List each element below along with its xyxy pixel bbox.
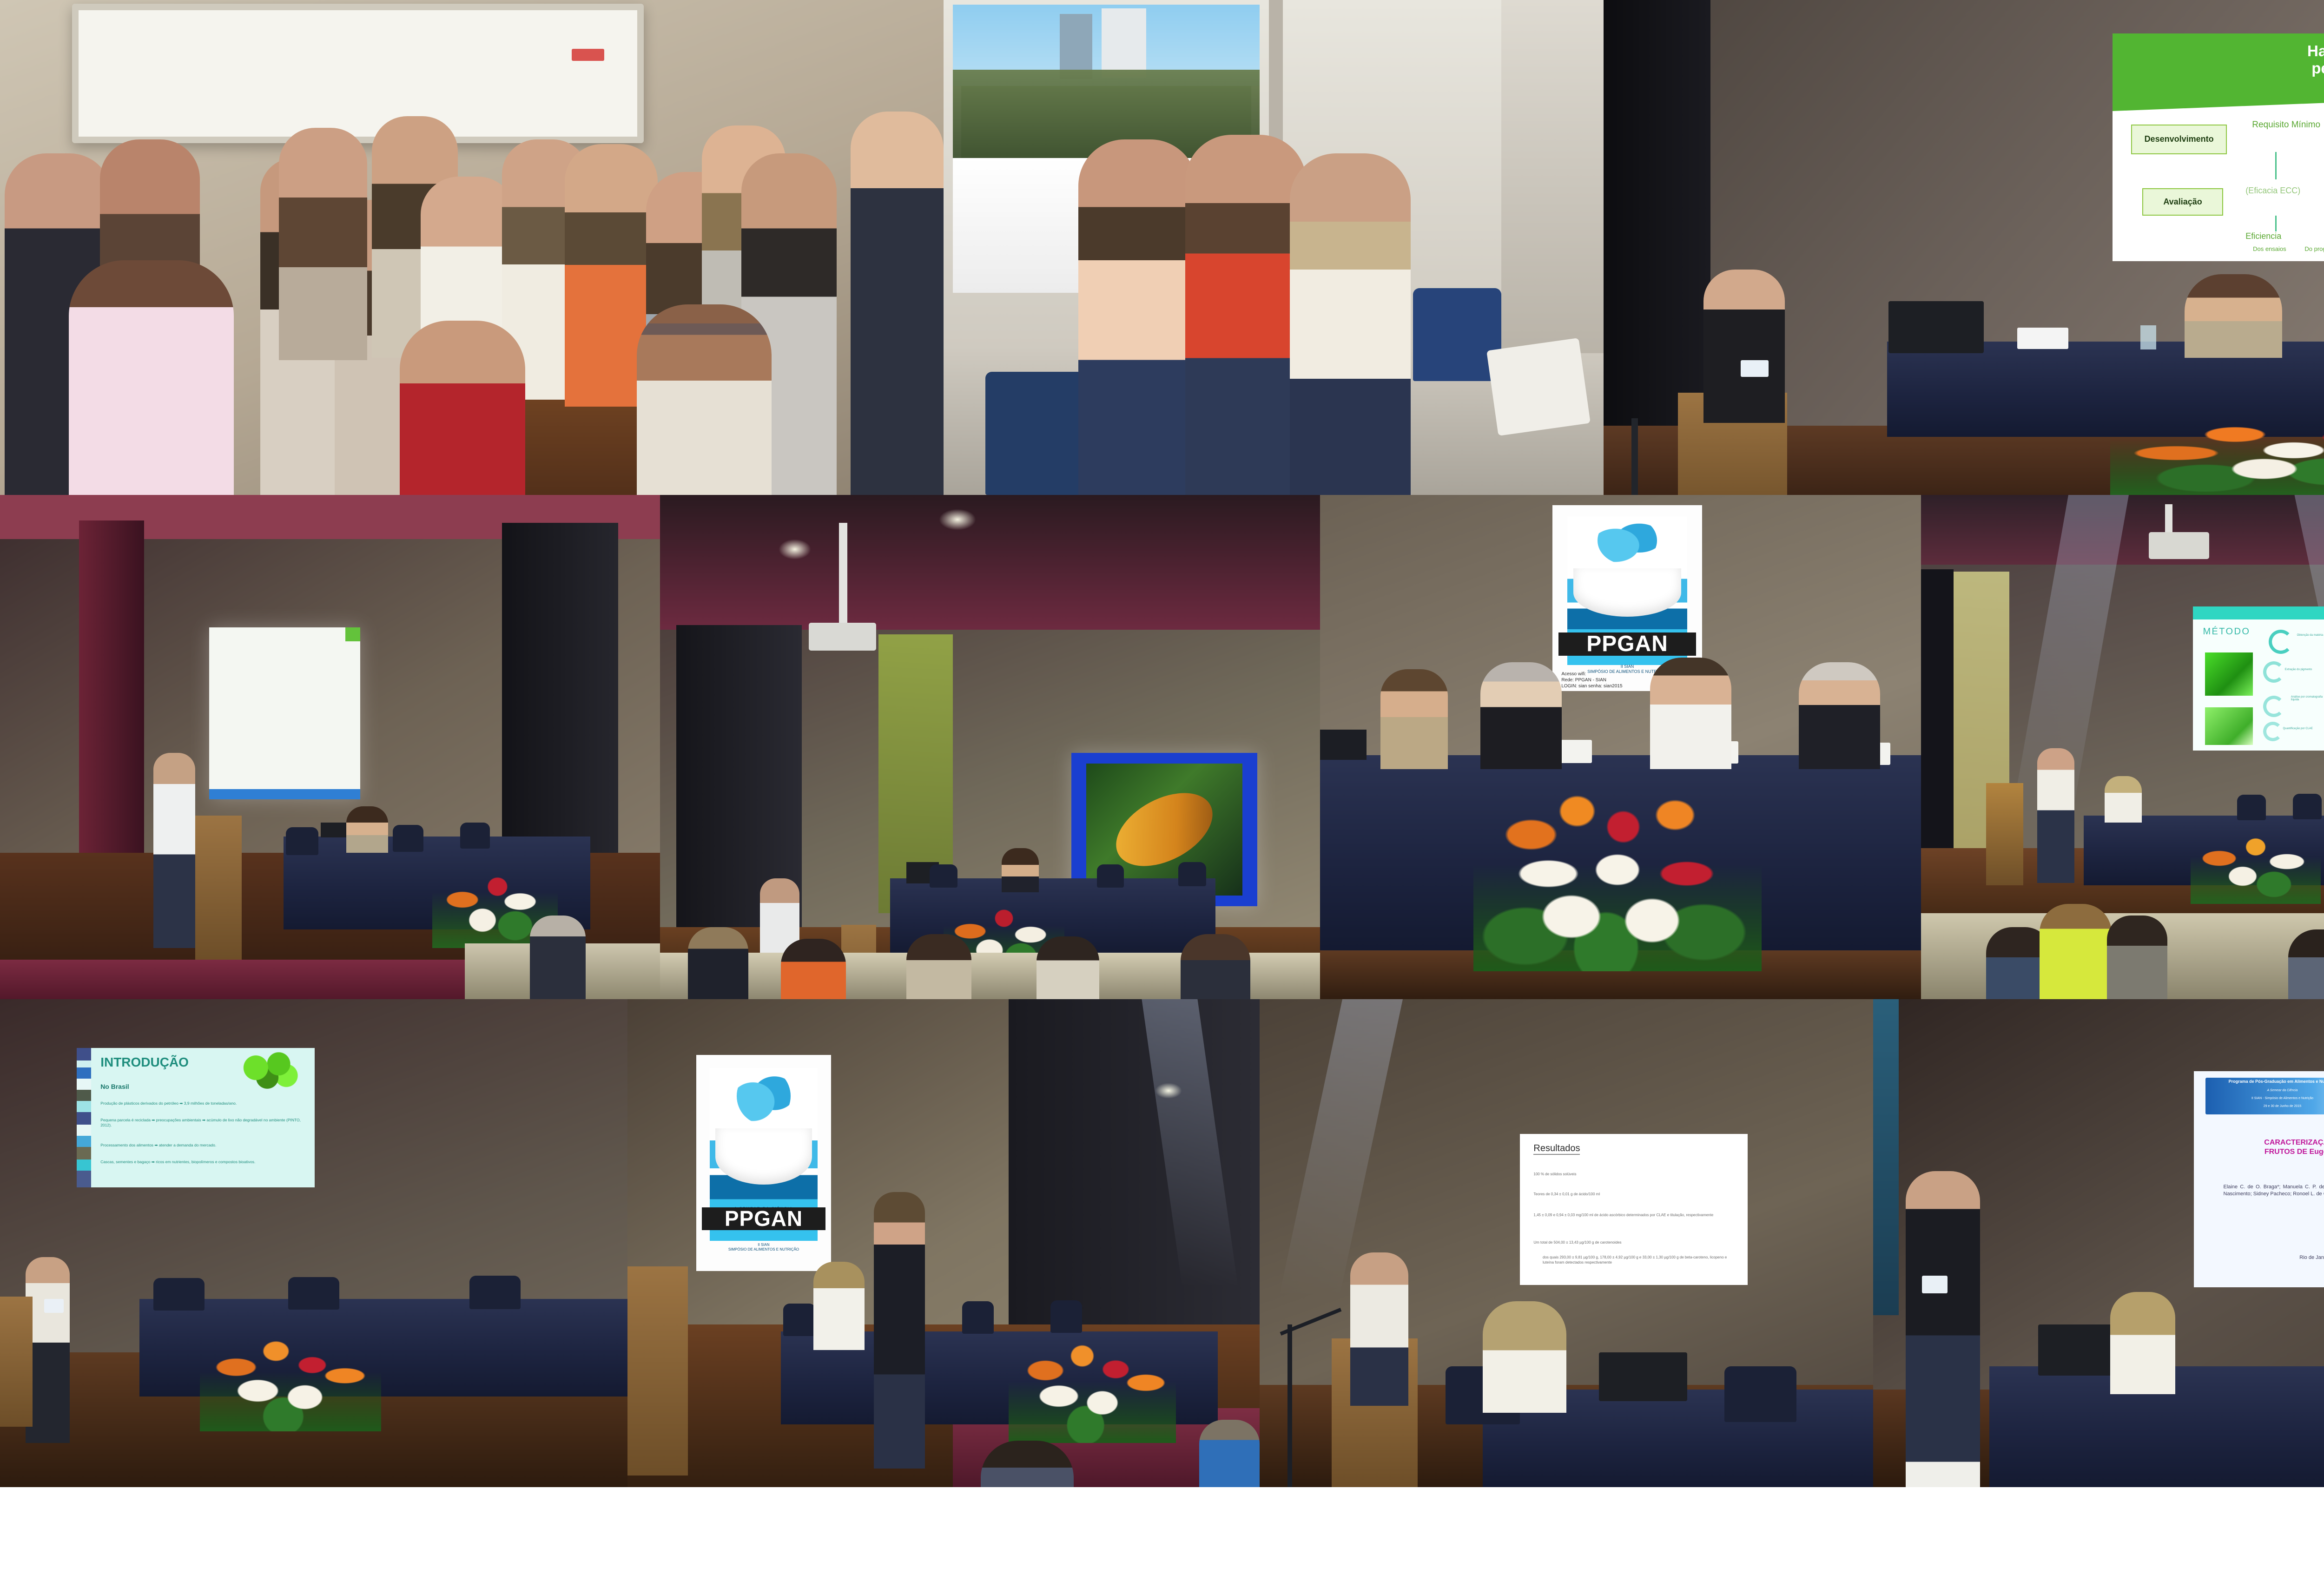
white-jacket <box>1486 338 1591 436</box>
chair <box>1413 288 1501 381</box>
building <box>1102 8 1146 78</box>
building <box>1060 14 1092 79</box>
person-audience <box>2288 929 2324 999</box>
outcome-item-0: Dos ensaios <box>2253 245 2286 252</box>
photo-stage-introducao-slide: INTRODUÇÃO No Brasil Produção de plástic… <box>0 999 627 1487</box>
mic-stand <box>1631 418 1638 495</box>
whiteboard <box>72 4 644 143</box>
slide-authors: Elaine C. de O. Braga*; Manuela C. P. de… <box>2224 1184 2324 1198</box>
phase-avaliacao: Avaliação <box>2142 188 2224 216</box>
photo-audience-metodo-slide: MÉTODO Obtenção da matéria-prima Extraçã… <box>1921 495 2324 999</box>
person-speaker <box>874 1192 925 1469</box>
nameplate <box>2017 328 2068 349</box>
person-audience <box>1199 1420 1260 1487</box>
ppgan-subtitle: II SIANSIMPÓSIO DE ALIMENTOS E NUTRIÇÃO <box>704 1243 823 1252</box>
laptop <box>2038 1324 2119 1376</box>
slide-corner-accent <box>345 627 361 641</box>
chair <box>153 1278 205 1311</box>
photo-three-women-window <box>944 0 1604 495</box>
ppgan-seedling-icon <box>737 1068 791 1124</box>
photo-group-classroom <box>0 0 944 495</box>
ceiling-light <box>779 539 811 560</box>
person-audience <box>906 934 971 999</box>
slide-date-place: Rio de Janeiro, 29 de Junho de 2015 <box>2194 1255 2324 1260</box>
method-photo <box>2205 652 2253 696</box>
ceiling-projector <box>809 623 876 651</box>
chair <box>469 1276 521 1309</box>
person-speaker <box>1799 662 1880 769</box>
slide-bullet-3: Um total de 504,00 ± 13,43 µg/100 g de c… <box>1533 1240 1734 1245</box>
banner-line-1: Programa de Pós-Graduação em Alimentos e… <box>2205 1079 2324 1084</box>
photo-presenter-antocianinas-slide: Programa de Pós-Graduação em Alimentos e… <box>1873 999 2324 1487</box>
slide-bullet-3: Cascas, sementes e bagaço ➡ ricos em nut… <box>100 1159 305 1165</box>
bottom-margin <box>0 1487 2324 1581</box>
chair <box>1050 1300 1082 1333</box>
step-label-1: Extração do pigmento <box>2285 668 2321 671</box>
ceiling <box>660 495 1320 630</box>
person <box>346 806 388 853</box>
floral-arrangement <box>2110 402 2324 495</box>
person <box>851 112 944 495</box>
flow-arrow <box>2275 216 2277 231</box>
person <box>1290 153 1411 495</box>
slide-footer-band <box>209 789 360 799</box>
chair <box>783 1304 816 1336</box>
step-ring-icon <box>2263 722 2283 741</box>
chair <box>286 827 318 855</box>
step-label-0: Obtenção da matéria-prima <box>2297 634 2324 637</box>
ceiling-light <box>939 509 976 530</box>
person-speaker <box>153 753 195 948</box>
step-label-2: Análise por cromatografia líquida <box>2291 696 2324 701</box>
slide-header-band <box>2193 606 2324 619</box>
person-speaker <box>1650 658 1731 769</box>
chair <box>393 825 423 852</box>
photo-panel-four-speakers: A SEMEAR DA CIÊNCIA PPGAN II SIANSIMPÓSI… <box>1320 495 1921 999</box>
slide-bullet-4: dos quais 293,00 ± 9,81 µg/100 g, 178,00… <box>1543 1255 1734 1265</box>
podium <box>0 1297 33 1427</box>
person-audience <box>2040 904 2112 999</box>
ppgan-hand-icon <box>715 1128 812 1185</box>
floral-arrangement <box>200 1324 381 1431</box>
badge <box>44 1299 64 1313</box>
banner-line-2: A Semear da Ciência <box>2205 1089 2324 1093</box>
person-audience <box>2107 916 2167 999</box>
phase1-value: Requisito Mínimo <box>2245 120 2324 130</box>
person <box>279 128 367 360</box>
slide-bullet-1: Teores de 0,34 ± 0,01 g de ácido/100 ml <box>1533 1192 1734 1197</box>
chair <box>1178 862 1206 886</box>
slide-bullet-2: 1,45 ± 0,09 e 0,94 ± 0,03 mg/100 ml de á… <box>1533 1212 1734 1218</box>
chair <box>962 1301 994 1334</box>
photo-presenter-ppgan-slide: A SEMEAR DA CIÊNCIA PPGAN II SIANSIMPÓSI… <box>627 999 1260 1487</box>
chair <box>1724 1366 1796 1422</box>
stage-curtain <box>1921 569 1954 857</box>
photo-collage: HarvestPlus: Fases de pesquisa em Nutriç… <box>0 0 2324 1581</box>
slide-metodo: MÉTODO Obtenção da matéria-prima Extraçã… <box>2193 606 2324 751</box>
slide-bullet-0: Produção de plásticos derivados do petró… <box>100 1101 305 1106</box>
chair <box>1097 864 1124 888</box>
step-label-3: Quantificação por CLAE <box>2283 727 2323 730</box>
laptop <box>1599 1352 1687 1401</box>
slide-bullet-1: Pequena parcela é reciclada ➡ preocupaçõ… <box>100 1118 305 1128</box>
door-panel <box>1501 0 1604 353</box>
phase-desenvolvimento: Desenvolvimento <box>2131 125 2227 154</box>
slide-title: MÉTODO <box>2203 626 2251 637</box>
step-ring-icon <box>2263 696 2284 717</box>
outcome-label: Eficiencia <box>2245 231 2281 241</box>
person-speaker <box>1480 662 1562 769</box>
laptop <box>1320 730 1367 760</box>
person <box>1078 139 1197 495</box>
person-audience <box>530 916 586 999</box>
person <box>637 304 772 495</box>
slide-color-strip <box>77 1048 91 1187</box>
slide-ppgan-title: A SEMEAR DA CIÊNCIA PPGAN II SIANSIMPÓSI… <box>696 1055 831 1271</box>
person-audience <box>1181 934 1250 999</box>
photo-auditorium-harvestplus: HarvestPlus: Fases de pesquisa em Nutriç… <box>1604 0 2324 495</box>
slide-title: HarvestPlus: Fases de pesquisa em Nutriç… <box>2205 43 2324 77</box>
person-speaker <box>1350 1252 1408 1406</box>
person <box>1002 848 1039 892</box>
step-ring-icon <box>2263 661 2284 683</box>
flow-arrow <box>2275 152 2277 179</box>
chair <box>460 823 490 849</box>
person-speaker <box>1906 1171 1980 1487</box>
banner-line-4: 29 e 30 de Junho de 2015 <box>2205 1105 2324 1109</box>
leaf-illustration <box>229 1052 305 1091</box>
badge <box>1922 1276 1948 1293</box>
chair <box>2293 794 2322 819</box>
chair <box>2237 795 2266 820</box>
photo-podium-resultados-slide: Resultados 100 % de sólidos solúveis Teo… <box>1260 999 1873 1487</box>
projection-screen-blank <box>209 627 360 799</box>
outcome-item-1: Do programa <box>2304 245 2324 252</box>
person <box>1185 135 1306 495</box>
slide-bullet-2: Processamento dos alimentos ➡ atender a … <box>100 1143 305 1148</box>
badge <box>1741 360 1769 377</box>
slide-resultados: Resultados 100 % de sólidos solúveis Teo… <box>1520 1134 1748 1285</box>
chair <box>288 1277 339 1310</box>
person <box>400 321 525 495</box>
ppgan-wordmark: PPGAN <box>702 1207 826 1230</box>
whiteboard-marker-tray <box>572 49 604 61</box>
event-banner: Programa de Pós-Graduação em Alimentos e… <box>2205 1078 2324 1114</box>
slide-antocianinas: Programa de Pós-Graduação em Alimentos e… <box>2194 1071 2324 1287</box>
photo-auditorium-cacao-slide <box>660 495 1320 999</box>
water-glass <box>2140 325 2156 349</box>
photo-stage-speaker-whitescreen <box>0 495 660 999</box>
projector-mount <box>839 523 847 630</box>
side-panel <box>1873 999 1899 1315</box>
phase2-value: (Eficacia ECC) <box>2245 186 2300 196</box>
slide-title: Resultados <box>1533 1143 1580 1155</box>
chair <box>930 864 957 888</box>
person-audience <box>1037 936 1099 999</box>
banner-line-3: II SIAN - Simpósio de Alimentos e Nutriç… <box>2205 1097 2324 1101</box>
person-speaker <box>1380 669 1448 769</box>
floral-arrangement <box>1473 776 1762 971</box>
person-audience <box>688 927 748 999</box>
method-photo <box>2205 707 2253 745</box>
mic-stand <box>1287 1324 1292 1487</box>
person <box>69 260 234 495</box>
laptop <box>1888 301 1984 353</box>
person-seated <box>1483 1301 1566 1413</box>
person-seated <box>2110 1292 2175 1394</box>
step-ring-icon <box>2269 630 2293 654</box>
slide-introducao: INTRODUÇÃO No Brasil Produção de plástic… <box>77 1048 315 1187</box>
floral-arrangement <box>2191 823 2321 904</box>
floral-arrangement <box>1009 1331 1176 1443</box>
slide-subtitle: No Brasil <box>100 1083 129 1090</box>
slide-title: INTRODUÇÃO <box>100 1055 189 1070</box>
slide-harvestplus: HarvestPlus: Fases de pesquisa em Nutriç… <box>2113 33 2324 261</box>
podium <box>195 816 242 960</box>
person-speaker <box>1703 270 1785 423</box>
podium <box>1986 783 2023 885</box>
slide-title: CARACTERIZAÇÃO DE ANTOCIANINAS EM FRUTOS… <box>2212 1138 2324 1157</box>
ceiling-projector <box>2149 532 2209 559</box>
person-speaker <box>2037 748 2074 883</box>
podium <box>627 1266 688 1476</box>
person-seated <box>813 1262 865 1350</box>
slide-bullet-0: 100 % de sólidos solúveis <box>1533 1172 1734 1177</box>
person <box>2105 776 2142 823</box>
ppgan-seedling-icon <box>1598 516 1657 565</box>
ppgan-hand-icon <box>1573 568 1681 617</box>
person <box>2185 274 2282 358</box>
ppgan-wordmark: PPGAN <box>1558 632 1696 656</box>
ceiling-light <box>1155 1083 1182 1099</box>
person-audience <box>781 939 846 999</box>
